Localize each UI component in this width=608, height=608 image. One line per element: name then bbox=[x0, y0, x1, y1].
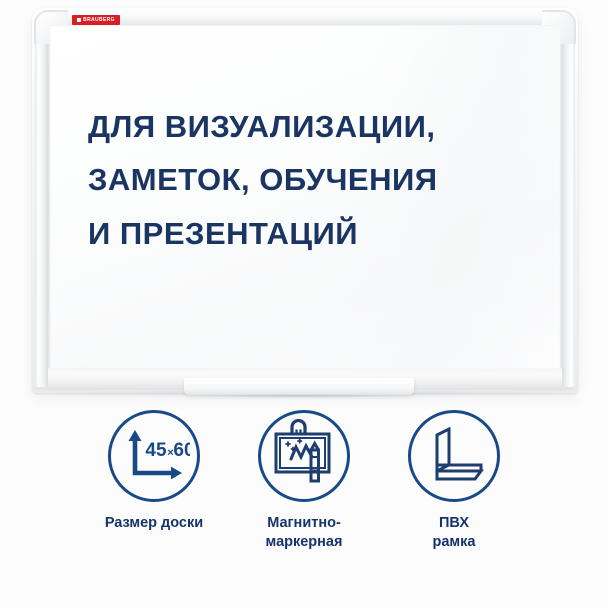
brauberg-logo: BRAUBERG bbox=[72, 15, 120, 25]
frame-rail-top bbox=[48, 11, 562, 25]
feature-list: 45 × 60 Размер доски bbox=[0, 410, 608, 552]
feature-pvc-frame: ПВХ рамка bbox=[379, 410, 529, 552]
logo-text: BRAUBERG bbox=[83, 18, 115, 23]
whiteboard: BRAUBERG ДЛЯ ВИЗУАЛИЗАЦИИ, ЗАМЕТОК, ОБУЧ… bbox=[32, 8, 578, 393]
feature-magnetic-marker: Магнитно- маркерная bbox=[229, 410, 379, 552]
svg-text:45: 45 bbox=[145, 440, 167, 461]
feature-caption-board-size: Размер доски bbox=[105, 514, 203, 533]
board-frame: BRAUBERG ДЛЯ ВИЗУАЛИЗАЦИИ, ЗАМЕТОК, ОБУЧ… bbox=[32, 8, 578, 393]
logo-mark-icon bbox=[77, 18, 81, 22]
feature-caption-magnetic: Магнитно- маркерная bbox=[266, 514, 343, 552]
headline-line-1: ДЛЯ ВИЗУАЛИЗАЦИИ, bbox=[88, 100, 508, 153]
marker-tray-shadow bbox=[196, 394, 402, 398]
product-image-canvas: BRAUBERG ДЛЯ ВИЗУАЛИЗАЦИИ, ЗАМЕТОК, ОБУЧ… bbox=[0, 0, 608, 608]
marker-tray bbox=[184, 378, 414, 395]
headline-text: ДЛЯ ВИЗУАЛИЗАЦИИ, ЗАМЕТОК, ОБУЧЕНИЯ И ПР… bbox=[88, 100, 508, 260]
feature-caption-pvc-frame: ПВХ рамка bbox=[433, 514, 476, 552]
headline-line-3: И ПРЕЗЕНТАЦИЙ bbox=[88, 207, 508, 260]
frame-rail-right bbox=[560, 24, 575, 387]
feature-board-size: 45 × 60 Размер доски bbox=[79, 410, 229, 533]
magnetic-marker-board-icon bbox=[258, 410, 350, 502]
svg-text:60: 60 bbox=[173, 440, 190, 461]
headline-line-2: ЗАМЕТОК, ОБУЧЕНИЯ bbox=[88, 153, 508, 206]
frame-rail-left bbox=[35, 24, 50, 387]
board-size-icon: 45 × 60 bbox=[108, 410, 200, 502]
pvc-frame-corner-icon bbox=[408, 410, 500, 502]
